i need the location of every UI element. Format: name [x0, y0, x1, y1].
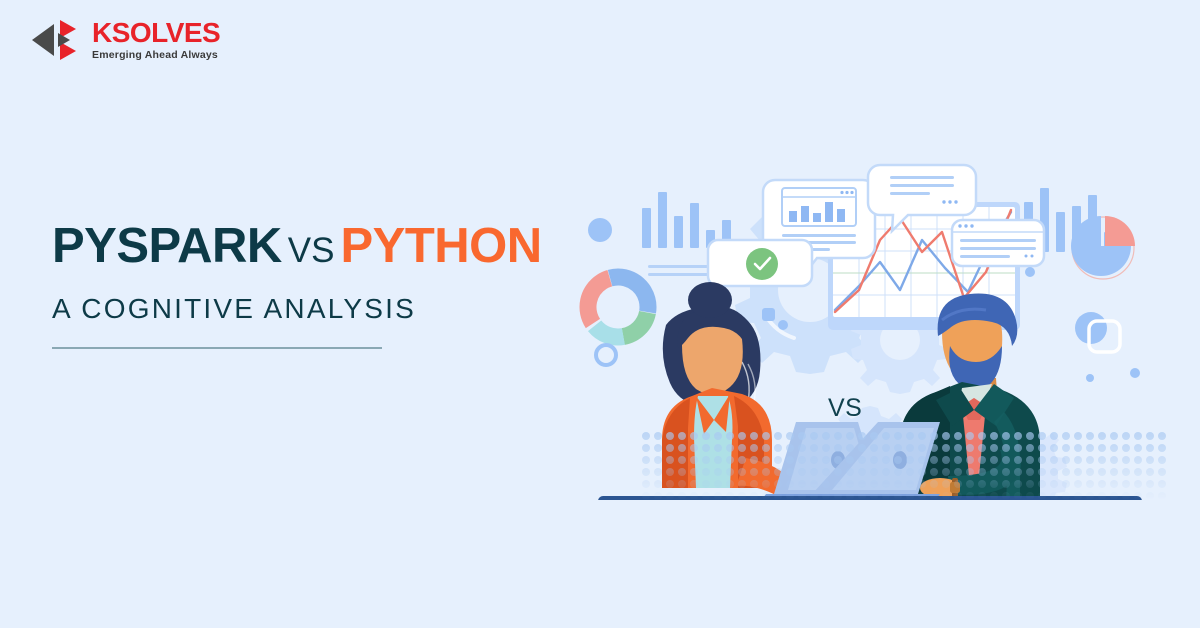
title-part-one: PYSPARK — [52, 219, 282, 273]
hero-illustration — [570, 140, 1170, 500]
illustration-vs-label: VS — [828, 394, 862, 423]
rounded-square-icon — [1075, 312, 1120, 352]
banner-root: KSOLVES Emerging Ahead Always PYSPARKVSP… — [0, 0, 1200, 628]
pie-chart — [1071, 216, 1135, 279]
page-title: PYSPARKVSPYTHON — [52, 222, 572, 271]
check-badge-icon — [746, 248, 778, 280]
brand-name: KSOLVES — [92, 19, 220, 47]
halftone-dots — [640, 430, 1170, 500]
title-divider — [52, 347, 382, 349]
chat-bubble-secondary — [952, 220, 1044, 266]
title-separator: VS — [282, 231, 341, 270]
title-part-two: PYTHON — [340, 219, 541, 273]
brand-logo-text: KSOLVES Emerging Ahead Always — [92, 19, 220, 61]
page-subtitle: A COGNITIVE ANALYSIS — [52, 293, 572, 325]
brand-tagline: Emerging Ahead Always — [92, 50, 218, 61]
brand-logo[interactable]: KSOLVES Emerging Ahead Always — [30, 18, 220, 62]
donut-chart — [577, 266, 660, 349]
triangle-play-mark-icon — [30, 18, 82, 62]
headline-block: PYSPARKVSPYTHON A COGNITIVE ANALYSIS — [52, 222, 572, 349]
